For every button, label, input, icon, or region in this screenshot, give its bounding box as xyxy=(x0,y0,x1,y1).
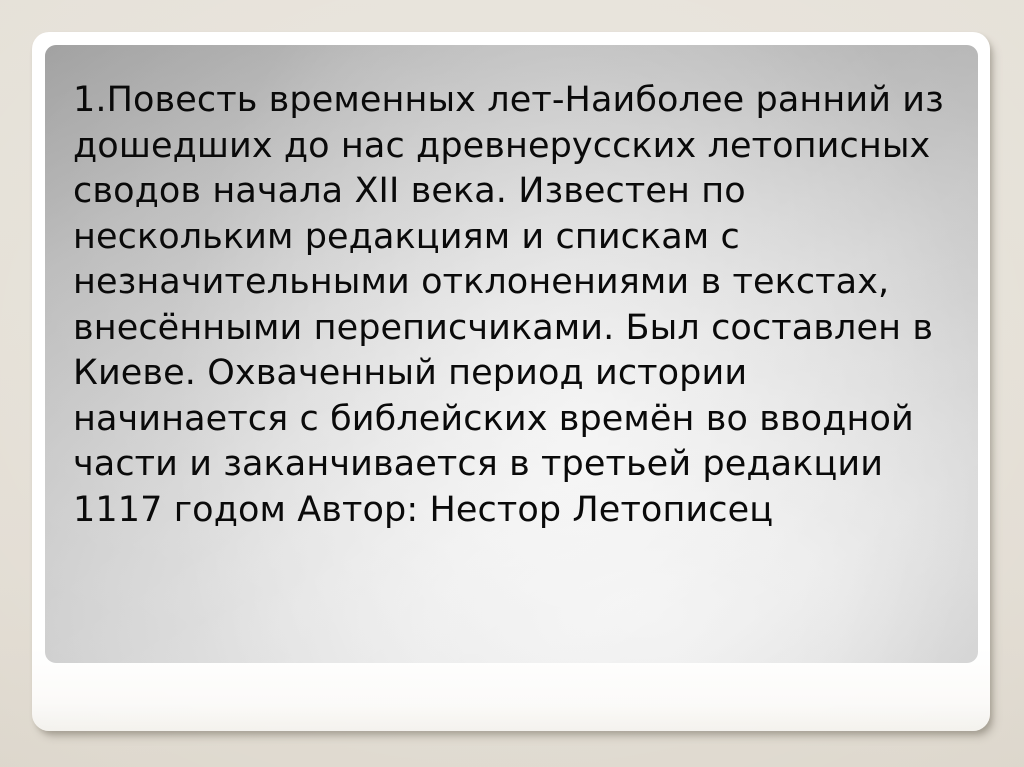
slide-card: 1.Повесть временных лет-Наиболее ранний … xyxy=(32,32,990,731)
slide-content-panel: 1.Повесть временных лет-Наиболее ранний … xyxy=(45,45,978,663)
slide-body-text: 1.Повесть временных лет-Наиболее ранний … xyxy=(73,78,953,533)
slide-canvas: 1.Повесть временных лет-Наиболее ранний … xyxy=(0,0,1024,767)
